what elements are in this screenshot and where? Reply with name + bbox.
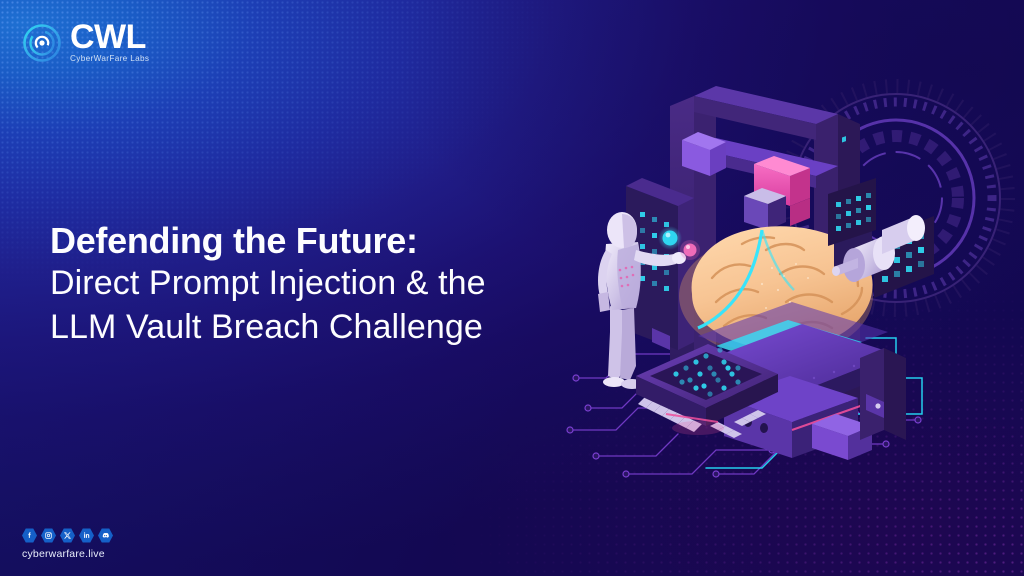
- printer-right-post: [860, 348, 906, 440]
- cwl-circular-target-icon: [22, 23, 62, 63]
- x-twitter-icon: [63, 531, 72, 540]
- headline-line-2: Direct Prompt Injection & the: [50, 262, 486, 306]
- slide-canvas: CWL CyberWarFare Labs Defending the Futu…: [0, 0, 1024, 576]
- brand-name: CWL: [70, 22, 149, 53]
- headline-line-3: LLM Vault Breach Challenge: [50, 306, 486, 350]
- brand-logo[interactable]: CWL CyberWarFare Labs: [22, 22, 149, 63]
- social-link-discord[interactable]: [98, 528, 113, 543]
- social-links: [22, 528, 113, 543]
- footer: cyberwarfare.live: [22, 528, 113, 560]
- website-url[interactable]: cyberwarfare.live: [22, 548, 113, 560]
- social-link-instagram[interactable]: [41, 528, 56, 543]
- page-title: Defending the Future: Direct Prompt Inje…: [50, 220, 486, 349]
- social-link-x-twitter[interactable]: [60, 528, 75, 543]
- discord-icon: [101, 531, 110, 540]
- facebook-icon: [25, 531, 34, 540]
- hero-illustration: [566, 78, 1024, 498]
- social-link-facebook[interactable]: [22, 528, 37, 543]
- instagram-icon: [44, 531, 53, 540]
- social-link-linkedin[interactable]: [79, 528, 94, 543]
- headline-line-1: Defending the Future:: [50, 220, 486, 262]
- linkedin-icon: [82, 531, 91, 540]
- brand-tagline: CyberWarFare Labs: [70, 55, 149, 63]
